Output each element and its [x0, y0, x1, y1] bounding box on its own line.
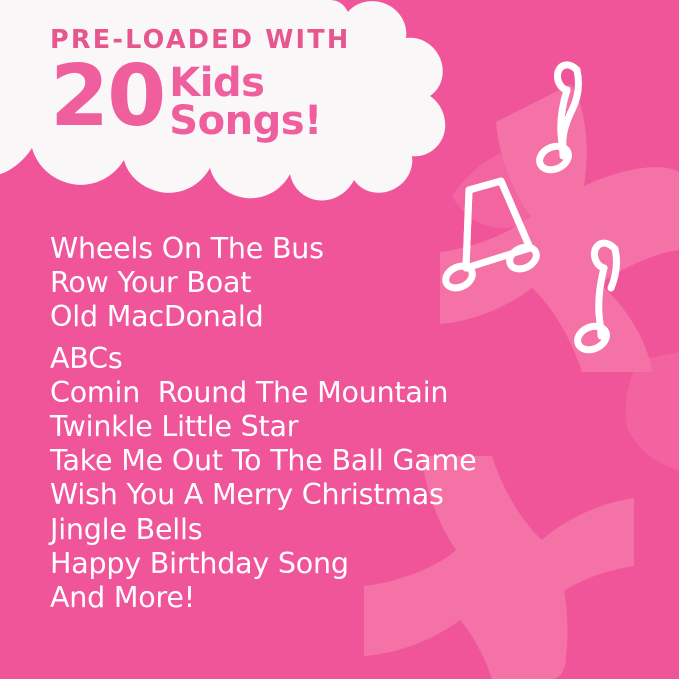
- song-count-number: 20: [50, 62, 164, 132]
- song-list-item: Wheels On The Bus: [50, 232, 630, 266]
- count-row: 20 Kids Songs!: [50, 62, 370, 141]
- promo-card: PRE-LOADED WITH 20 Kids Songs! Wheels On…: [0, 0, 679, 679]
- song-list-item: Comin Round The Mountain: [50, 376, 630, 410]
- song-list-item: Old MacDonald: [50, 300, 630, 334]
- count-words: Kids Songs!: [169, 64, 321, 141]
- song-list-item: Wish You A Merry Christmas: [50, 478, 630, 512]
- count-word-songs: Songs!: [169, 102, 321, 140]
- count-word-kids: Kids: [169, 64, 321, 102]
- song-list-item: Jingle Bells: [50, 513, 630, 547]
- song-list-item: Take Me Out To The Ball Game: [50, 444, 630, 478]
- headline-block: PRE-LOADED WITH 20 Kids Songs!: [50, 28, 370, 140]
- song-list-item: ABCs: [50, 342, 630, 376]
- song-list-item: Twinkle Little Star: [50, 410, 630, 444]
- song-list-item: Happy Birthday Song: [50, 547, 630, 581]
- song-list-item: And More!: [50, 581, 630, 615]
- song-list: Wheels On The BusRow Your BoatOld MacDon…: [50, 232, 630, 615]
- song-list-item: Row Your Boat: [50, 266, 630, 300]
